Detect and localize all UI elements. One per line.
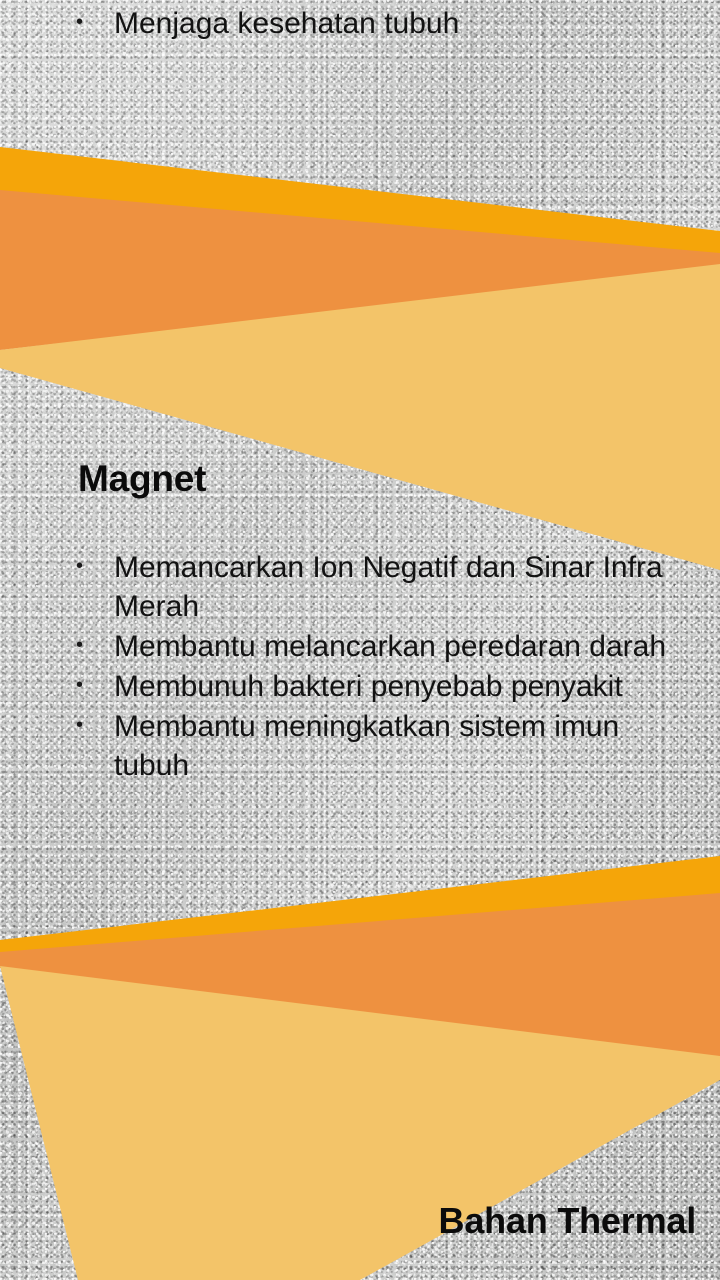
footer-section-heading: Bahan Thermal [439, 1200, 696, 1242]
top-bullet-list: tulang pinggul dan tulang belakang Menja… [70, 0, 702, 44]
list-item: Membantu meningkatkan sistem imun tubuh [70, 707, 702, 785]
magnet-bullet-list: Memancarkan Ion Negatif dan Sinar Infra … [70, 548, 702, 786]
list-item: Memancarkan Ion Negatif dan Sinar Infra … [70, 548, 702, 626]
list-item: tulang pinggul dan tulang belakang [70, 0, 702, 3]
list-item: Membunuh bakteri penyebab penyakit [70, 667, 702, 706]
list-item: Menjaga kesehatan tubuh [70, 4, 702, 43]
list-item: Membantu melancarkan peredaran darah [70, 627, 702, 666]
slide-canvas: tulang pinggul dan tulang belakang Menja… [0, 0, 720, 1280]
magnet-section-heading: Magnet [78, 458, 206, 500]
